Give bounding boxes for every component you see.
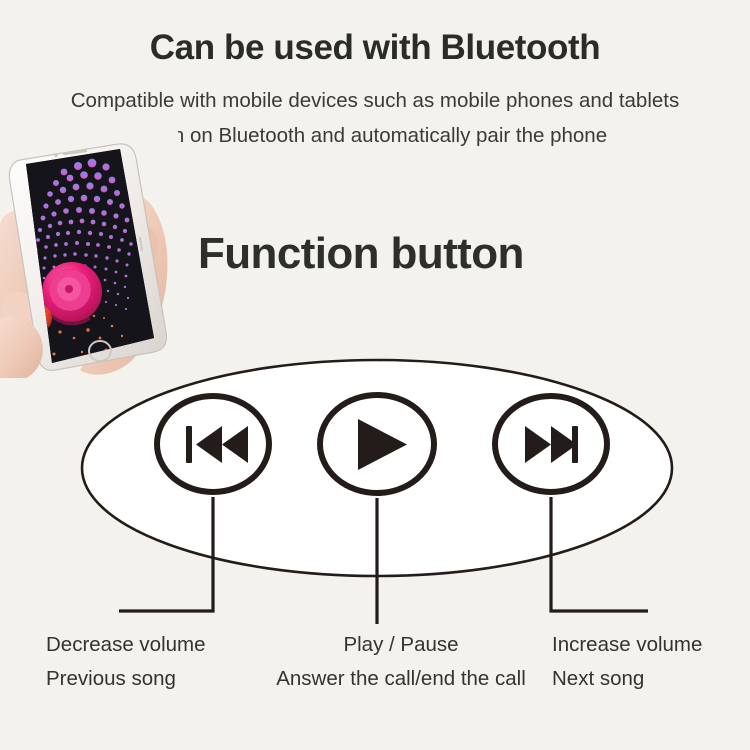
previous-track-button[interactable] [157,396,269,492]
caption-next-line2: Next song [552,662,702,696]
caption-next-line1: Increase volume [552,633,702,656]
page-title: Can be used with Bluetooth [0,28,750,68]
caption-play-pause-line1: Play / Pause [256,628,546,662]
caption-play-pause-line2: Answer the call/end the call [256,662,546,696]
subtitle-line-1: Compatible with mobile devices such as m… [0,89,750,113]
caption-previous-line2: Previous song [46,662,206,696]
play-pause-button[interactable] [320,395,434,493]
product-infographic: Can be used with Bluetooth Compatible wi… [0,0,750,750]
function-button-diagram [0,340,750,640]
caption-previous-line1: Decrease volume [46,633,206,656]
caption-play-pause: Play / Pause Answer the call/end the cal… [256,628,546,696]
next-track-button[interactable] [495,396,607,492]
caption-next: Increase volume Next song [552,628,702,696]
caption-previous: Decrease volume Previous song [46,628,206,696]
front-camera [54,153,58,157]
section-title: Function button [198,229,524,279]
